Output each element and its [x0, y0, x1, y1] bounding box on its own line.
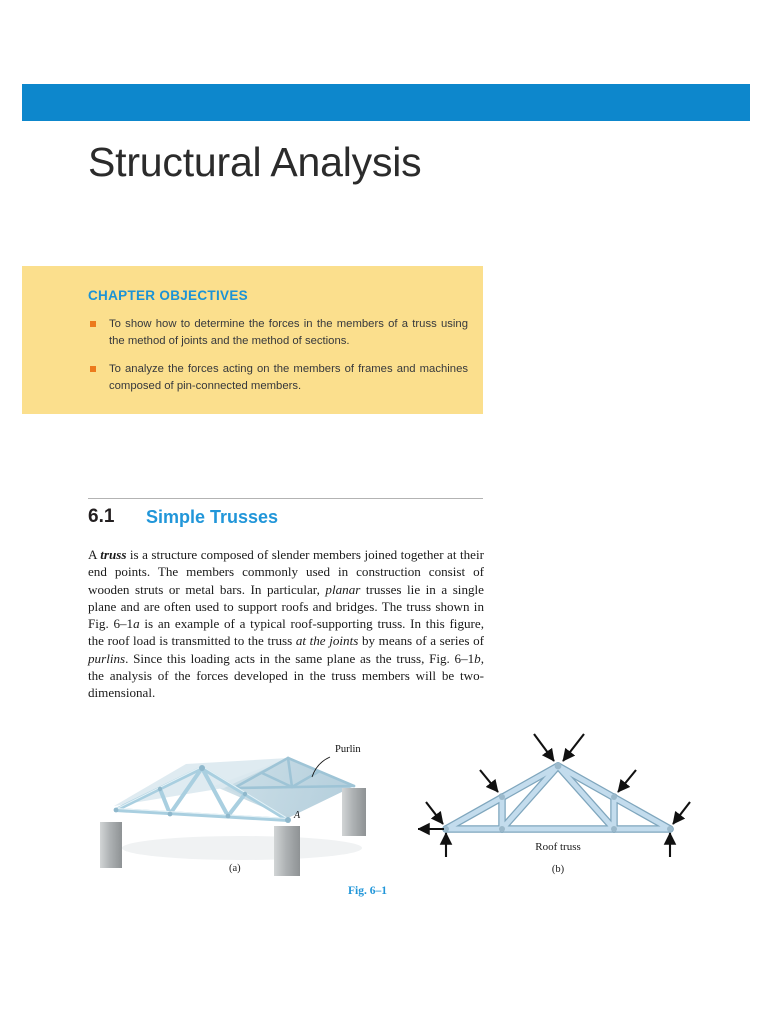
figure-b-label: (b) [552, 864, 565, 875]
applied-load-arrows [426, 734, 690, 824]
support-column-right [342, 788, 366, 836]
chapter-objectives-box: CHAPTER OBJECTIVES To show how to determ… [22, 266, 483, 414]
joint-a-label: A [293, 810, 301, 821]
section-title: Simple Trusses [146, 507, 278, 528]
purlin-label: Purlin [335, 744, 361, 755]
truss-member-outlines [446, 766, 670, 829]
ground-shadow [122, 836, 362, 860]
truss-joint-nodes [443, 763, 673, 832]
textbook-page: Structural Analysis CHAPTER OBJECTIVES T… [0, 0, 768, 1024]
section-heading: 6.1 Simple Trusses [88, 506, 488, 534]
truss-members [446, 766, 670, 829]
roof-truss-label: Roof truss [535, 841, 581, 853]
section-number: 6.1 [88, 506, 114, 528]
support-column-center [274, 826, 300, 876]
bullet-square-icon [90, 366, 96, 372]
body-paragraph: A truss is a structure composed of slend… [88, 546, 484, 702]
objectives-list: To show how to determine the forces in t… [88, 316, 468, 406]
figure-a-label: (a) [229, 863, 241, 874]
objective-text: To analyze the forces acting on the memb… [109, 363, 468, 392]
chapter-banner [22, 84, 750, 121]
support-column-left [100, 822, 122, 868]
objective-item: To analyze the forces acting on the memb… [88, 361, 468, 395]
objectives-heading: CHAPTER OBJECTIVES [88, 288, 248, 303]
section-divider [88, 498, 483, 499]
objective-text: To show how to determine the forces in t… [109, 318, 468, 347]
figure-b-roof-truss-2d: Roof truss (b) [418, 732, 703, 877]
figure-a-roof-truss-3d: Purlin A (a) [92, 730, 382, 878]
figure-caption: Fig. 6–1 [348, 885, 387, 897]
page-title: Structural Analysis [88, 139, 421, 186]
objective-item: To show how to determine the forces in t… [88, 316, 468, 350]
bullet-square-icon [90, 321, 96, 327]
